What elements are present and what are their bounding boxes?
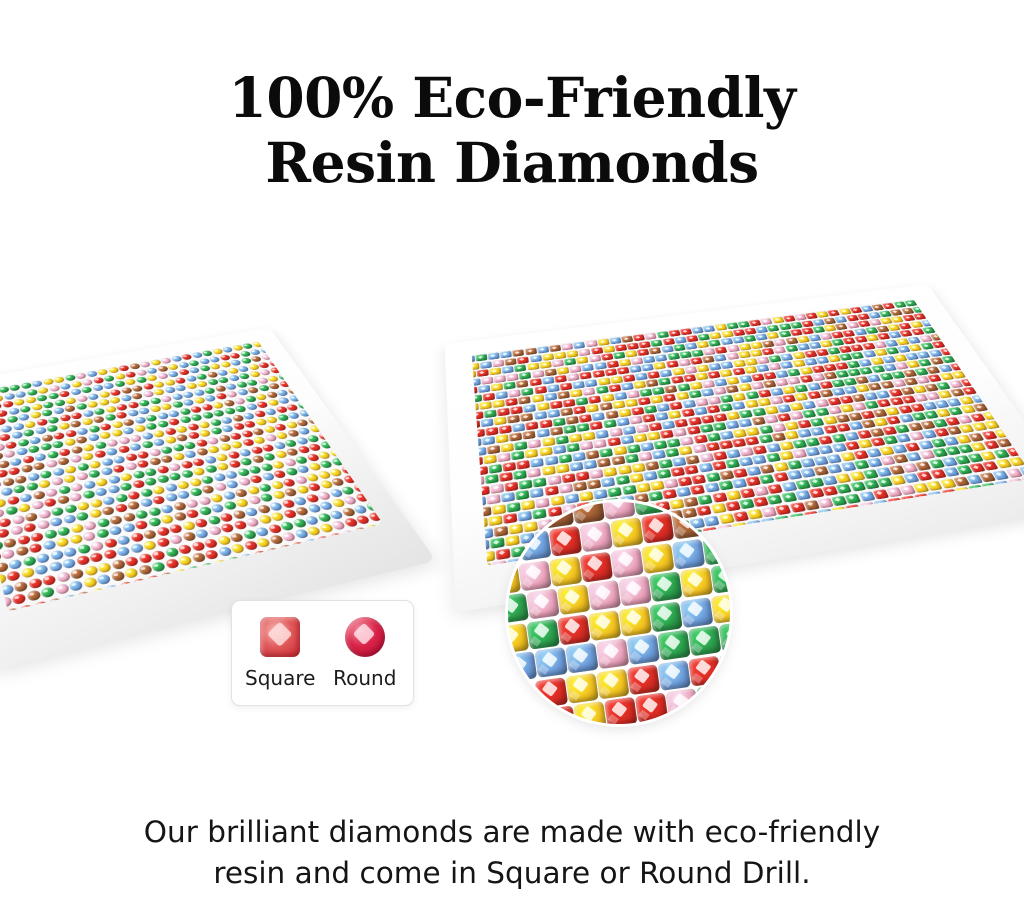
drill	[375, 478, 383, 488]
drill	[509, 321, 521, 328]
drill	[737, 299, 749, 300]
drill	[672, 538, 705, 569]
drill	[361, 423, 375, 431]
drill	[676, 307, 688, 314]
drill	[657, 630, 690, 661]
drill	[341, 418, 355, 426]
drill	[353, 453, 368, 462]
drill	[132, 577, 148, 589]
drill	[558, 308, 570, 315]
drill	[214, 571, 230, 583]
drill	[964, 314, 978, 321]
drill	[985, 342, 1000, 349]
drill	[765, 299, 778, 303]
drill	[831, 299, 844, 302]
drill	[353, 526, 369, 537]
drill	[956, 308, 970, 315]
drill	[0, 359, 1, 366]
drill	[699, 305, 711, 312]
drill	[526, 589, 559, 620]
drill	[688, 655, 721, 686]
drill	[975, 351, 990, 359]
drill	[666, 688, 699, 719]
drill	[298, 393, 311, 401]
drill	[305, 549, 321, 560]
product-description: Our brilliant diamonds are made with eco…	[50, 812, 974, 896]
drill	[328, 412, 342, 420]
drill	[820, 299, 833, 303]
drill	[472, 508, 477, 519]
drill	[376, 499, 383, 509]
drill	[356, 537, 372, 548]
drill	[0, 352, 3, 359]
drill	[521, 320, 533, 327]
drill	[308, 341, 320, 344]
drill	[328, 430, 342, 439]
drill	[213, 559, 229, 571]
drill	[132, 590, 148, 602]
drill	[987, 334, 1002, 341]
drill	[672, 299, 684, 301]
drill	[591, 311, 603, 318]
drill	[362, 460, 377, 469]
drill	[317, 414, 331, 422]
drill	[298, 354, 311, 361]
drill	[787, 299, 800, 300]
drill	[588, 580, 621, 611]
drill	[649, 571, 682, 602]
drill	[565, 643, 598, 674]
drill	[941, 332, 955, 339]
drill	[995, 391, 1011, 399]
drill	[291, 541, 307, 552]
drill	[102, 346, 114, 353]
drill	[665, 309, 677, 316]
drill	[568, 314, 580, 321]
drill	[317, 381, 330, 388]
product-description-line-1: Our brilliant diamonds are made with eco…	[50, 812, 974, 854]
drill	[319, 422, 333, 430]
drill	[652, 317, 664, 324]
drill	[105, 584, 121, 596]
drill	[34, 345, 45, 352]
drill	[349, 391, 363, 399]
drill	[931, 318, 945, 325]
drill	[664, 316, 676, 323]
drill	[186, 565, 202, 577]
drill	[270, 352, 283, 359]
drill	[641, 543, 674, 574]
drill	[686, 313, 698, 320]
drill	[607, 316, 619, 323]
drill	[278, 358, 291, 365]
drill	[518, 530, 551, 561]
drill	[630, 313, 642, 320]
drill	[974, 368, 989, 376]
drill	[922, 305, 936, 312]
drill	[636, 305, 648, 312]
drill	[561, 322, 573, 329]
drill	[995, 373, 1010, 381]
drill	[338, 377, 351, 384]
drill	[62, 593, 77, 606]
drill	[680, 597, 713, 628]
drill	[91, 355, 103, 362]
drill	[486, 338, 498, 345]
drill	[627, 300, 639, 307]
drill	[944, 302, 958, 309]
drill	[279, 343, 291, 350]
drill	[580, 522, 613, 553]
legend-item-round[interactable]: Round	[325, 617, 405, 690]
drill	[584, 319, 596, 326]
drill	[289, 363, 302, 370]
drill	[688, 625, 721, 656]
square-gem-icon	[260, 617, 300, 657]
drill	[501, 329, 513, 336]
drill	[116, 341, 127, 344]
drill	[936, 299, 950, 303]
drill	[985, 383, 1000, 391]
product-description-line-2: resin and come in Square or Round Drill.	[50, 853, 974, 895]
drill	[61, 606, 77, 611]
drill	[16, 368, 27, 375]
drill	[54, 348, 65, 355]
drill	[303, 538, 319, 549]
drill	[693, 299, 705, 305]
drill	[547, 330, 559, 337]
drill	[298, 341, 310, 346]
legend-item-square[interactable]: Square	[240, 617, 320, 690]
drill	[997, 382, 1013, 390]
drill	[297, 369, 310, 376]
drill	[508, 593, 529, 624]
drill	[965, 337, 979, 344]
drill	[963, 329, 977, 336]
drill	[328, 395, 342, 403]
drill	[59, 361, 71, 368]
legend-label-round: Round	[333, 666, 396, 690]
drill	[477, 332, 489, 339]
drill	[964, 353, 979, 361]
drill	[776, 302, 789, 309]
drill	[55, 341, 66, 348]
drill	[535, 311, 547, 318]
drill	[300, 346, 313, 353]
drill	[994, 409, 1010, 418]
product-infographic: 100% Eco-Friendly Resin Diamonds Square …	[0, 0, 1024, 923]
drill	[973, 343, 988, 350]
drill	[201, 574, 217, 586]
drill	[602, 502, 635, 519]
drill	[625, 307, 637, 314]
drill	[380, 532, 383, 543]
drill	[640, 319, 652, 326]
drill	[319, 405, 333, 413]
drill	[998, 348, 1013, 356]
drill	[809, 299, 822, 305]
drill	[45, 343, 56, 350]
drill	[732, 522, 748, 533]
drill	[320, 357, 333, 364]
drill	[1009, 398, 1024, 407]
drill	[696, 684, 729, 715]
drill	[1018, 370, 1024, 378]
drill	[75, 344, 86, 351]
drill	[341, 455, 356, 464]
drill	[330, 371, 343, 378]
drill	[112, 352, 124, 359]
drill	[366, 490, 382, 500]
drill	[146, 574, 162, 586]
drill	[279, 365, 292, 372]
drill	[269, 345, 281, 352]
drill	[351, 399, 365, 407]
drill	[341, 436, 355, 445]
drill	[543, 705, 576, 724]
drill	[558, 329, 570, 336]
drill	[845, 504, 862, 515]
drill	[648, 304, 660, 311]
drill	[610, 547, 643, 578]
drill	[133, 341, 145, 348]
drill	[318, 365, 331, 372]
drill	[352, 434, 366, 443]
drill	[492, 561, 507, 566]
drill	[754, 305, 767, 312]
drill	[309, 375, 322, 382]
drill	[297, 385, 310, 393]
drill	[488, 317, 499, 324]
drill	[549, 526, 582, 557]
drill	[572, 320, 584, 327]
drill	[254, 561, 270, 573]
drill	[582, 326, 594, 333]
drill	[173, 580, 189, 592]
round-drill-field	[0, 341, 383, 611]
drill	[350, 425, 364, 433]
drill	[670, 301, 682, 308]
drill	[619, 605, 652, 636]
drill	[290, 348, 303, 355]
drill	[675, 315, 687, 322]
drill	[349, 408, 363, 416]
drill	[106, 341, 117, 346]
drill	[966, 321, 980, 328]
drill	[350, 443, 365, 452]
tray-inner	[0, 341, 383, 611]
drill	[732, 308, 745, 315]
drill	[984, 358, 999, 366]
drill	[38, 365, 50, 372]
drill	[549, 323, 561, 330]
drill	[340, 385, 353, 393]
drill	[942, 317, 956, 324]
drill	[765, 303, 778, 310]
drill	[944, 324, 958, 331]
drill	[518, 560, 551, 591]
drill	[310, 345, 323, 352]
drill	[27, 366, 38, 373]
drill	[682, 300, 694, 307]
drill	[65, 346, 76, 353]
drill	[746, 520, 762, 531]
drill	[376, 467, 383, 476]
drill	[204, 341, 216, 342]
drill	[86, 341, 97, 342]
drill	[961, 361, 976, 369]
drill	[657, 660, 690, 691]
drill	[474, 339, 486, 346]
drill	[953, 315, 967, 322]
drill	[200, 562, 216, 574]
drill	[194, 341, 206, 344]
drill	[1007, 355, 1022, 363]
drill	[526, 618, 559, 649]
drill	[775, 515, 791, 526]
drill	[0, 610, 5, 611]
drill	[743, 306, 756, 313]
drill	[709, 310, 722, 317]
drill	[47, 610, 63, 612]
drill	[338, 393, 352, 401]
drill	[288, 356, 301, 363]
drill	[0, 372, 5, 379]
drill	[339, 410, 353, 418]
drill	[371, 421, 383, 429]
drill	[638, 299, 650, 305]
drill	[4, 607, 19, 612]
drill	[532, 318, 544, 325]
drill	[754, 299, 767, 304]
drill	[687, 306, 699, 313]
drill	[293, 552, 309, 563]
drill	[160, 571, 176, 583]
drill	[48, 597, 63, 610]
drill	[1008, 417, 1024, 426]
drill	[627, 634, 660, 665]
drill	[997, 400, 1013, 409]
drill	[683, 299, 695, 300]
drill	[373, 439, 384, 448]
drill	[511, 335, 523, 342]
drill	[947, 299, 961, 301]
drill	[985, 326, 999, 333]
drill	[995, 356, 1010, 364]
drill	[49, 356, 60, 363]
drill	[377, 521, 383, 532]
drill	[374, 458, 383, 467]
drill	[951, 346, 966, 354]
drill	[1018, 425, 1024, 434]
drill	[743, 299, 756, 306]
drill	[508, 651, 537, 682]
drill	[163, 343, 175, 350]
drill	[945, 309, 959, 316]
drill	[998, 365, 1013, 373]
drill	[163, 341, 175, 342]
drill	[602, 310, 614, 317]
drill	[523, 312, 535, 319]
drill	[535, 332, 547, 339]
drill	[925, 299, 939, 304]
drill	[549, 556, 582, 587]
drill	[472, 488, 475, 498]
drill	[39, 357, 50, 364]
drill	[261, 341, 273, 346]
drill	[1009, 363, 1024, 371]
drill	[33, 352, 44, 359]
drill	[331, 543, 347, 554]
drill	[641, 513, 674, 544]
drill	[299, 361, 312, 368]
drill	[976, 335, 991, 342]
drill	[472, 319, 476, 326]
drill	[954, 338, 968, 345]
drill	[604, 303, 616, 310]
drill	[318, 350, 331, 357]
drill	[1006, 408, 1022, 417]
drill	[92, 348, 104, 355]
drill	[715, 299, 727, 302]
drill	[267, 558, 283, 570]
drill	[642, 312, 654, 319]
drill	[789, 513, 806, 524]
drill	[955, 323, 969, 330]
drill	[710, 303, 722, 310]
drill	[525, 326, 537, 333]
drill	[472, 468, 474, 478]
drill	[711, 563, 730, 594]
drill	[720, 309, 733, 316]
drill	[91, 587, 107, 599]
drill	[776, 299, 789, 302]
drill	[330, 420, 344, 428]
drill	[48, 363, 60, 370]
drill	[375, 448, 383, 457]
drill	[556, 315, 568, 322]
drill	[75, 603, 91, 612]
drill	[308, 352, 321, 359]
drill	[580, 551, 613, 582]
drill	[153, 344, 165, 351]
drill	[680, 567, 713, 598]
drill	[1, 357, 12, 364]
drill	[239, 553, 255, 564]
drill	[513, 327, 525, 334]
drill	[497, 322, 509, 329]
drill	[307, 399, 321, 407]
drill	[174, 341, 186, 347]
drill	[65, 341, 76, 346]
drill	[618, 576, 651, 607]
drill	[535, 677, 568, 708]
drill	[227, 567, 243, 579]
drill	[341, 529, 357, 540]
drill	[787, 301, 800, 308]
drill	[557, 584, 590, 615]
drill	[987, 350, 1002, 358]
drill	[610, 517, 643, 548]
drill	[594, 325, 606, 332]
drill	[143, 341, 155, 346]
drill	[476, 563, 491, 566]
drill	[85, 343, 96, 350]
drill	[360, 406, 374, 414]
drill	[472, 333, 477, 340]
drill	[702, 534, 730, 565]
drill	[933, 303, 947, 310]
